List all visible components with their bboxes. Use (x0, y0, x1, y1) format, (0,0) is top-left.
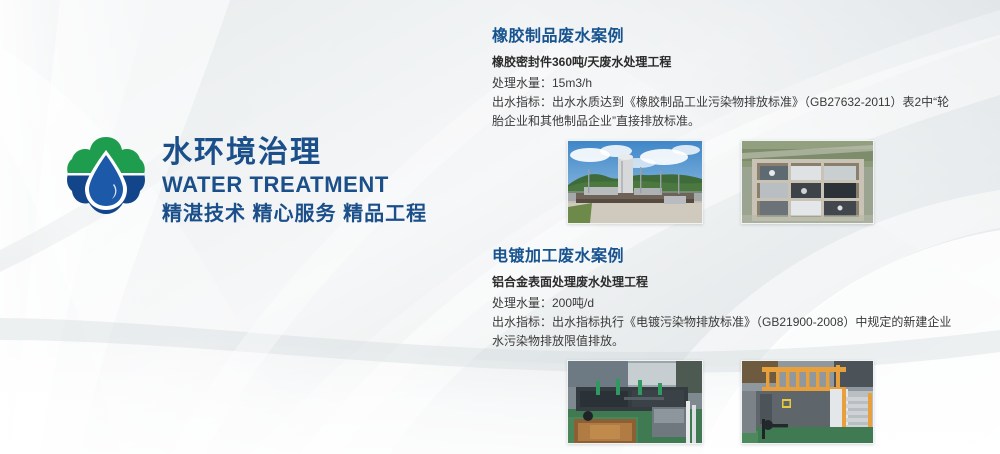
case-photo-rubber-1[interactable] (567, 140, 703, 224)
case-capacity: 处理水量：200吨/d (492, 294, 954, 313)
case-block-plating: 电镀加工废水案例 铝合金表面处理废水处理工程 处理水量：200吨/d 出水指标：… (492, 246, 954, 444)
logo-svg (66, 133, 146, 225)
cases-column: 橡胶制品废水案例 橡胶密封件360吨/天废水处理工程 处理水量：15m3/h 出… (492, 26, 954, 444)
case-photo-row (492, 360, 954, 444)
photo-art-treatment-plant (568, 141, 702, 223)
brand-text-block: 水环境治理 WATER TREATMENT 精湛技术 精心服务 精品工程 (162, 133, 427, 228)
photo-art-aerial-basins (742, 141, 873, 223)
case-photo-row (492, 140, 954, 224)
banner-page: 水环境治理 WATER TREATMENT 精湛技术 精心服务 精品工程 橡胶制… (0, 0, 1000, 454)
case-capacity: 处理水量：15m3/h (492, 74, 954, 93)
case-title: 电镀加工废水案例 (492, 246, 954, 268)
case-subtitle: 橡胶密封件360吨/天废水处理工程 (492, 53, 954, 71)
photo-art-plating-workshop (568, 361, 702, 443)
case-standard: 出水指标：出水水质达到《橡胶制品工业污染物排放标准》（GB27632-2011）… (492, 93, 954, 131)
brand-slogan: 精湛技术 精心服务 精品工程 (162, 200, 427, 228)
case-subtitle: 铝合金表面处理废水处理工程 (492, 273, 954, 291)
case-title: 橡胶制品废水案例 (492, 26, 954, 48)
brand-title-en: WATER TREATMENT (162, 171, 427, 199)
brand-title-cn: 水环境治理 (162, 135, 427, 171)
case-photo-plating-2[interactable] (741, 360, 874, 444)
water-drop-lotus-logo-icon (66, 133, 146, 225)
case-photo-rubber-2[interactable] (741, 140, 874, 224)
photo-art-equipment-stairs (742, 361, 873, 443)
brand-block: 水环境治理 WATER TREATMENT 精湛技术 精心服务 精品工程 (66, 133, 427, 228)
case-block-rubber: 橡胶制品废水案例 橡胶密封件360吨/天废水处理工程 处理水量：15m3/h 出… (492, 26, 954, 224)
case-standard: 出水指标：出水指标执行《电镀污染物排放标准》（GB21900-2008）中规定的… (492, 313, 954, 351)
case-photo-plating-1[interactable] (567, 360, 703, 444)
